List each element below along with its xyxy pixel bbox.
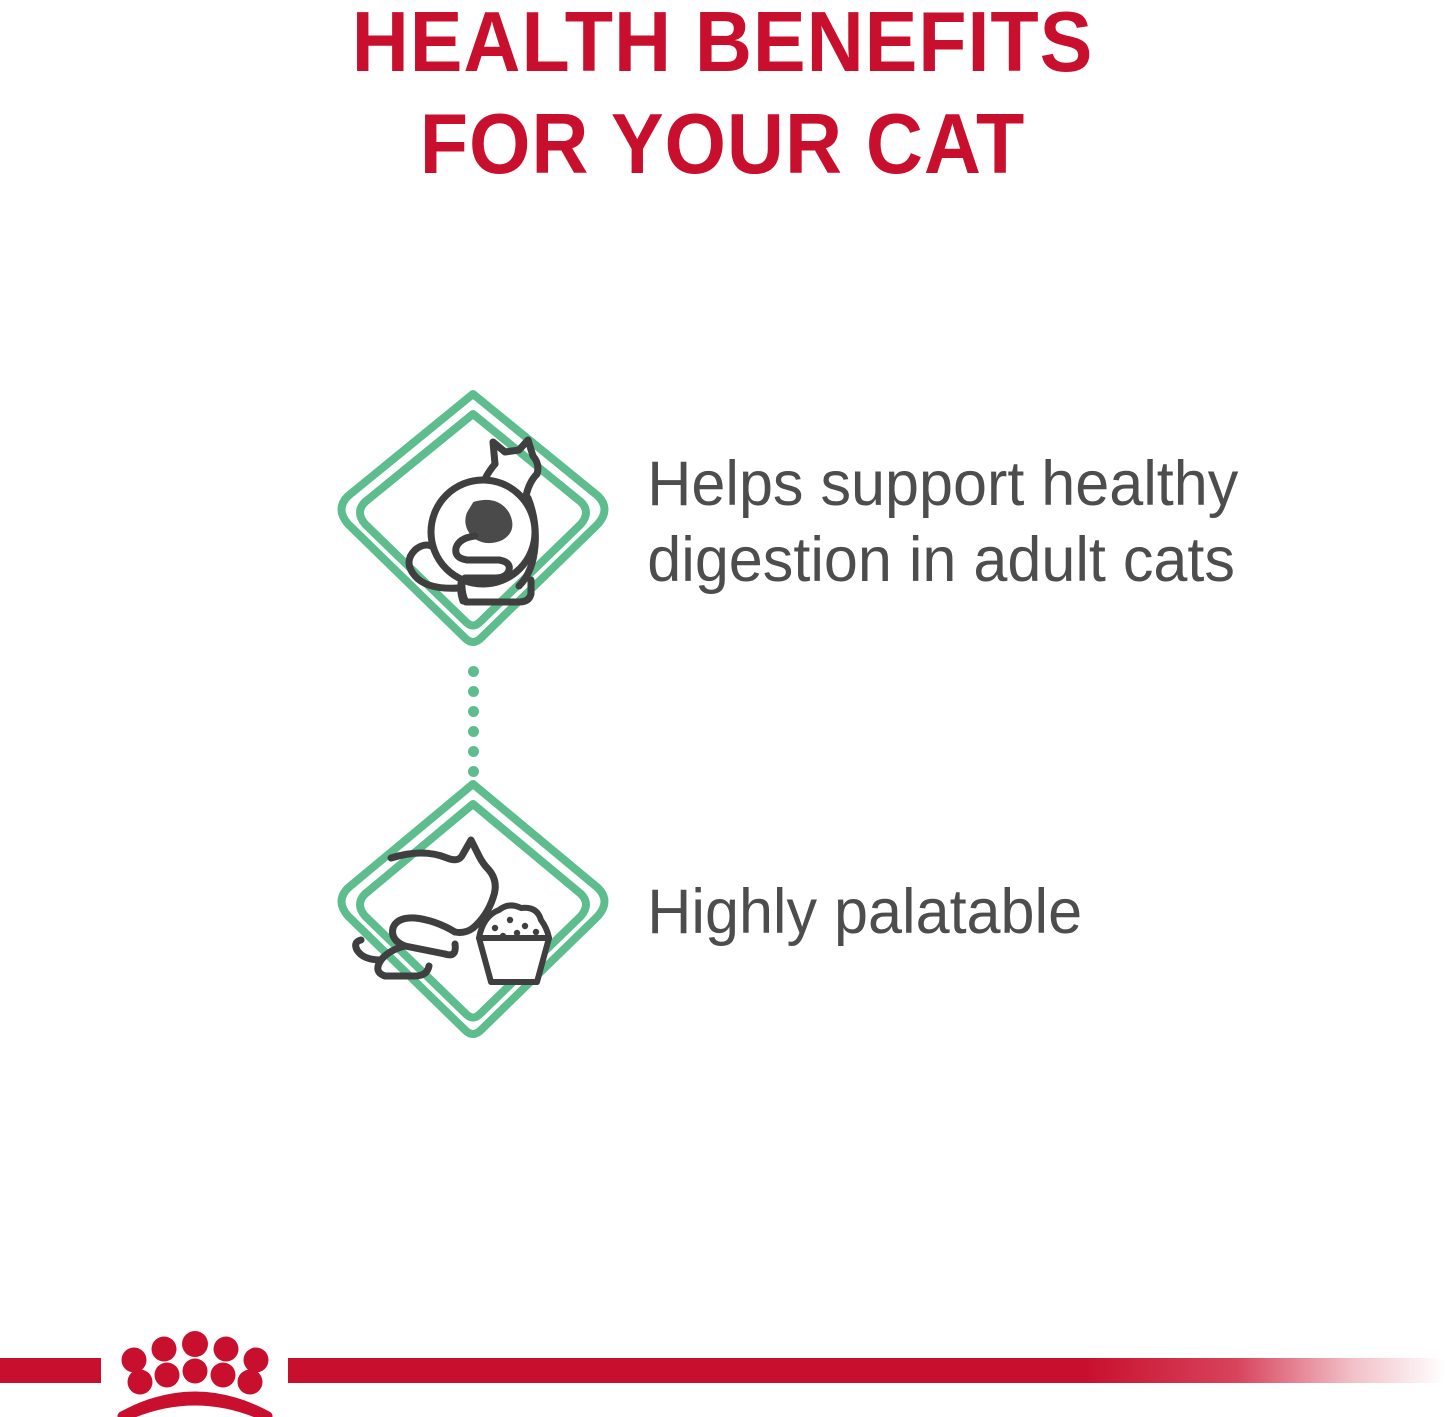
cat-eating-bowl-icon — [323, 770, 623, 1054]
connector-dot — [468, 726, 479, 737]
cat-digestion-icon — [323, 380, 623, 664]
dotted-connector — [464, 666, 484, 776]
royal-canin-crown-logo — [100, 1320, 290, 1417]
benefit-text: Highly palatable — [623, 874, 1420, 950]
connector-dot — [468, 706, 479, 717]
connector-dot — [468, 686, 479, 697]
benefit-text: Helps support healthy digestion in adult… — [623, 446, 1420, 598]
page-title: HEALTH BENEFITS FOR YOUR CAT — [0, 0, 1445, 196]
footer-brand-bar — [0, 1320, 1445, 1417]
footer-bar-right-segment — [288, 1358, 1445, 1383]
connector-dot — [468, 746, 479, 757]
connector-dot — [468, 666, 479, 677]
connector-dot — [468, 766, 479, 777]
benefit-item: Highly palatable — [0, 770, 1445, 1054]
benefit-item: Helps support healthy digestion in adult… — [0, 380, 1445, 664]
page-title-line-1: HEALTH BENEFITS — [51, 0, 1395, 94]
footer-bar-left-segment — [0, 1358, 101, 1383]
page-title-line-2: FOR YOUR CAT — [51, 94, 1395, 196]
